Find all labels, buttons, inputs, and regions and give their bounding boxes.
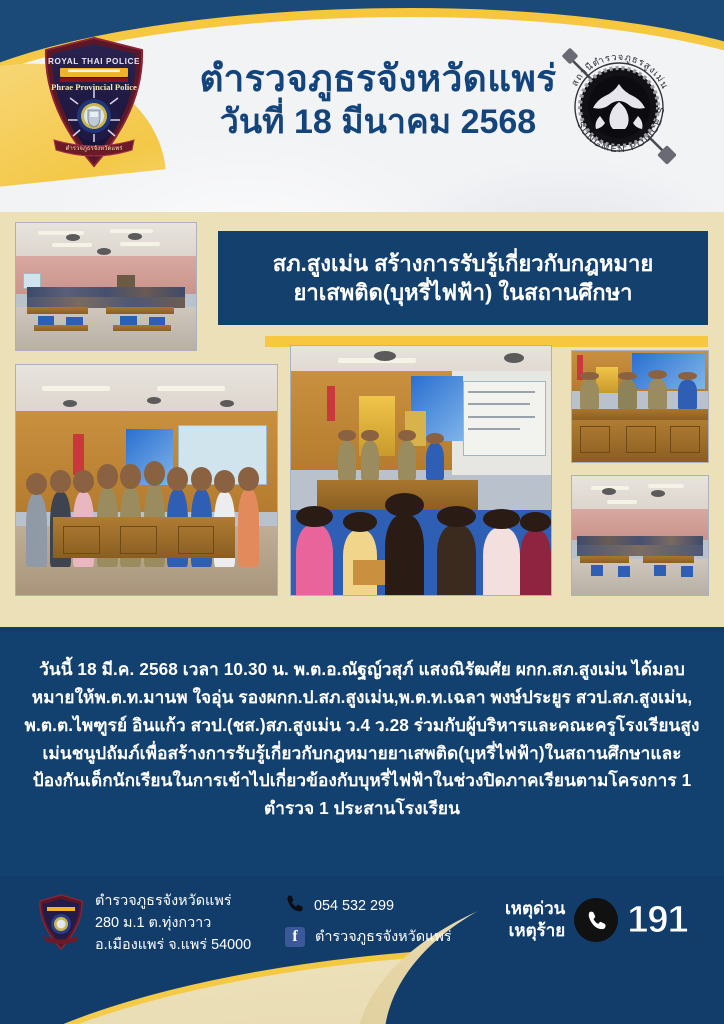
header-date: วันที่ 18 มีนาคม 2568 <box>168 103 588 141</box>
page-title: ตำรวจภูธรจังหวัดแพร่ <box>168 58 588 99</box>
sungmen-police-station-seal-icon: สถานีตำรวจภูธรสูงเม่น SUNGMEN POLICE STA… <box>548 36 690 178</box>
badge-ribbon-text: ตำรวจภูธรจังหวัดแพร่ <box>66 145 124 152</box>
badge-top-text: ROYAL THAI POLICE <box>48 57 140 66</box>
emergency-callout: เหตุด่วน เหตุร้าย 191 <box>505 898 688 942</box>
footer-address-block: ตำรวจภูธรจังหวัดแพร่ 280 ม.1 ต.ทุ่งกวาว … <box>95 891 251 957</box>
article-body-text: วันนี้ 18 มี.ค. 2568 เวลา 10.30 น. พ.ต.อ… <box>18 656 706 823</box>
photo-group-photo <box>15 364 278 596</box>
footer-address-line-1: 280 ม.1 ต.ทุ่งกวาว <box>95 913 251 935</box>
headline-line-1: สภ.สูงเม่น สร้างการรับรู้เกี่ยวกับกฎหมาย <box>273 249 654 278</box>
headline-banner-text: สภ.สูงเม่น สร้างการรับรู้เกี่ยวกับกฎหมาย… <box>273 249 654 308</box>
footer-contact-block: 054 532 299 f ตำรวจภูธรจังหวัดแพร่ <box>285 894 452 955</box>
poster-footer: ตำรวจภูธรจังหวัดแพร่ 280 ม.1 ต.ทุ่งกวาว … <box>0 876 724 1024</box>
poster-header: ROYAL THAI POLICE Phrae Provincial Polic… <box>0 0 724 212</box>
photo-stage-panel-audience <box>290 345 552 596</box>
article-body-section: วันนี้ 18 มี.ค. 2568 เวลา 10.30 น. พ.ต.อ… <box>0 632 724 876</box>
emergency-label: เหตุด่วน เหตุร้าย <box>505 898 565 942</box>
photo-collage-section: สภ.สูงเม่น สร้างการรับรู้เกี่ยวกับกฎหมาย… <box>0 212 724 627</box>
headline-line-2: ยาเสพติด(บุหรี่ไฟฟ้า) ในสถานศึกษา <box>273 278 654 307</box>
emergency-label-line-2: เหตุร้าย <box>505 920 565 942</box>
photo-panel-closeup <box>571 350 709 463</box>
footer-org-name: ตำรวจภูธรจังหวัดแพร่ <box>95 891 251 913</box>
facebook-icon: f <box>285 927 305 947</box>
phone-icon <box>285 894 304 918</box>
emergency-phone-icon <box>574 898 618 942</box>
footer-phone-row[interactable]: 054 532 299 <box>285 894 452 918</box>
emergency-label-line-1: เหตุด่วน <box>505 898 565 920</box>
poster-root: ROYAL THAI POLICE Phrae Provincial Polic… <box>0 0 724 1024</box>
footer-phone-number: 054 532 299 <box>314 898 394 914</box>
footer-address-line-2: อ.เมืองแพร่ จ.แพร่ 54000 <box>95 935 251 957</box>
header-title-group: ตำรวจภูธรจังหวัดแพร่ วันที่ 18 มีนาคม 25… <box>168 58 588 142</box>
footer-facebook-row[interactable]: f ตำรวจภูธรจังหวัดแพร่ <box>285 925 452 948</box>
photo-auditorium-wide-top <box>15 222 197 351</box>
emergency-number: 191 <box>627 899 687 942</box>
footer-facebook-name: ตำรวจภูธรจังหวัดแพร่ <box>315 925 452 948</box>
footer-police-badge-icon <box>38 894 84 950</box>
phrae-police-badge-icon: ROYAL THAI POLICE Phrae Provincial Polic… <box>40 36 148 169</box>
photo-auditorium-wide-bottom <box>571 475 709 596</box>
headline-banner: สภ.สูงเม่น สร้างการรับรู้เกี่ยวกับกฎหมาย… <box>218 231 708 325</box>
